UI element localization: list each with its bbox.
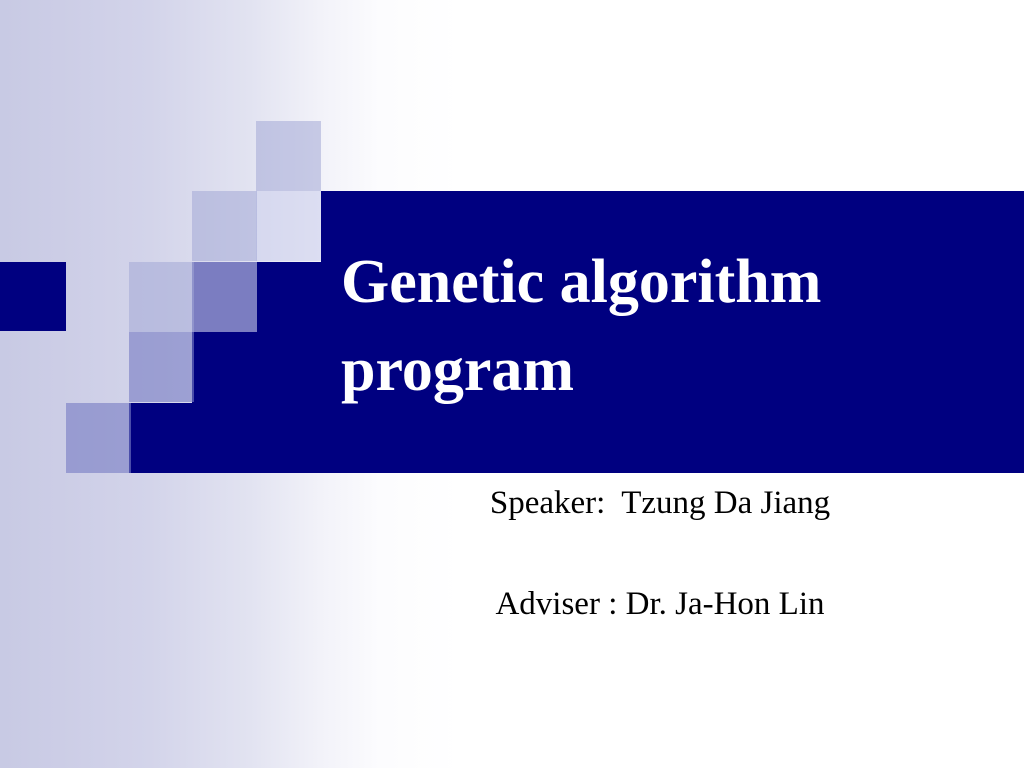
decorative-square-4 [192, 262, 257, 332]
subtitle-speaker-line: Speaker: Tzung Da Jiang [330, 487, 990, 527]
decorative-square-7 [66, 403, 131, 473]
slide-title: Genetic algorithm program [341, 238, 981, 414]
presentation-slide: Genetic algorithm program Speaker: Tzung… [0, 0, 1024, 768]
subtitle-spacer [330, 527, 990, 588]
navy-step-lower [129, 403, 193, 473]
decorative-square-6 [129, 332, 194, 402]
decorative-square-2 [256, 191, 321, 261]
navy-left-accent-block [0, 262, 66, 331]
subtitle-adviser-line: Adviser : Dr. Ja-Hon Lin [330, 588, 990, 628]
decorative-square-5 [129, 262, 194, 332]
decorative-square-1 [256, 121, 321, 191]
slide-subtitle: Speaker: Tzung Da Jiang Adviser : Dr. Ja… [330, 487, 990, 628]
decorative-square-3 [192, 191, 257, 261]
